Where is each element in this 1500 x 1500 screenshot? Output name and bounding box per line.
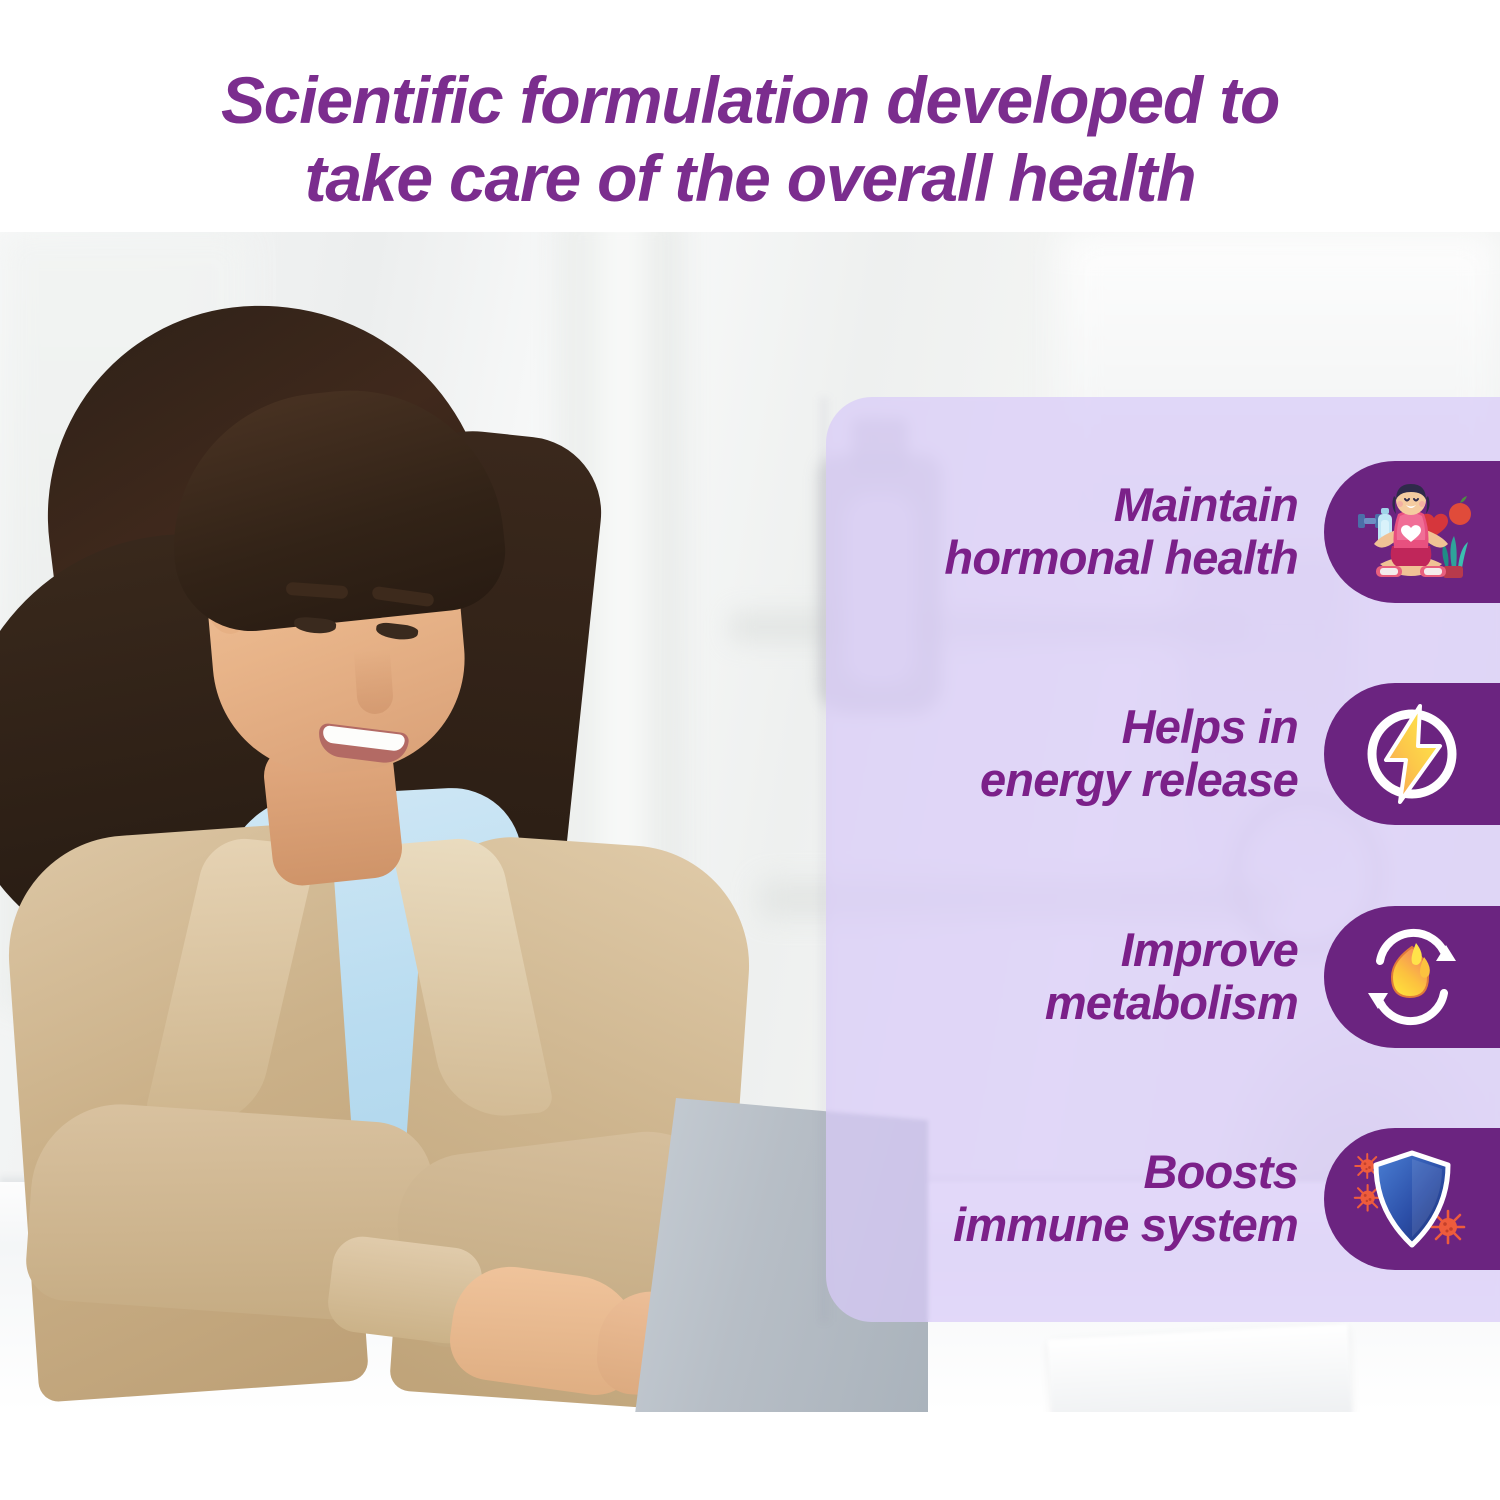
benefit-label: Improve metabolism — [1045, 924, 1324, 1029]
page-title: Scientific formulation developed to take… — [0, 62, 1500, 218]
benefit-label: Boosts immune system — [953, 1146, 1324, 1251]
meditating-woman-wellness-icon — [1350, 480, 1474, 584]
benefit-item-metabolism[interactable]: Improve metabolism — [826, 902, 1500, 1052]
shield-virus-protection-icon — [1350, 1145, 1474, 1253]
benefits-list: Maintain hormonal health — [826, 397, 1500, 1322]
benefit-label: Maintain hormonal health — [944, 479, 1324, 584]
benefit-icon-badge — [1324, 461, 1500, 603]
benefit-icon-badge — [1324, 906, 1500, 1048]
benefit-item-immune-system[interactable]: Boosts immune system — [826, 1124, 1500, 1274]
nose — [354, 649, 394, 715]
benefit-icon-badge — [1324, 683, 1500, 825]
benefit-icon-badge — [1324, 1128, 1500, 1270]
flame-refresh-cycle-icon — [1354, 921, 1470, 1033]
benefit-item-energy-release[interactable]: Helps in energy release — [826, 679, 1500, 829]
product-benefits-infographic: Scientific formulation developed to take… — [0, 0, 1500, 1500]
benefit-label: Helps in energy release — [980, 701, 1324, 806]
lightning-bolt-icon — [1356, 698, 1468, 810]
desk-papers — [1048, 1324, 1352, 1412]
benefit-item-hormonal-health[interactable]: Maintain hormonal health — [826, 457, 1500, 607]
